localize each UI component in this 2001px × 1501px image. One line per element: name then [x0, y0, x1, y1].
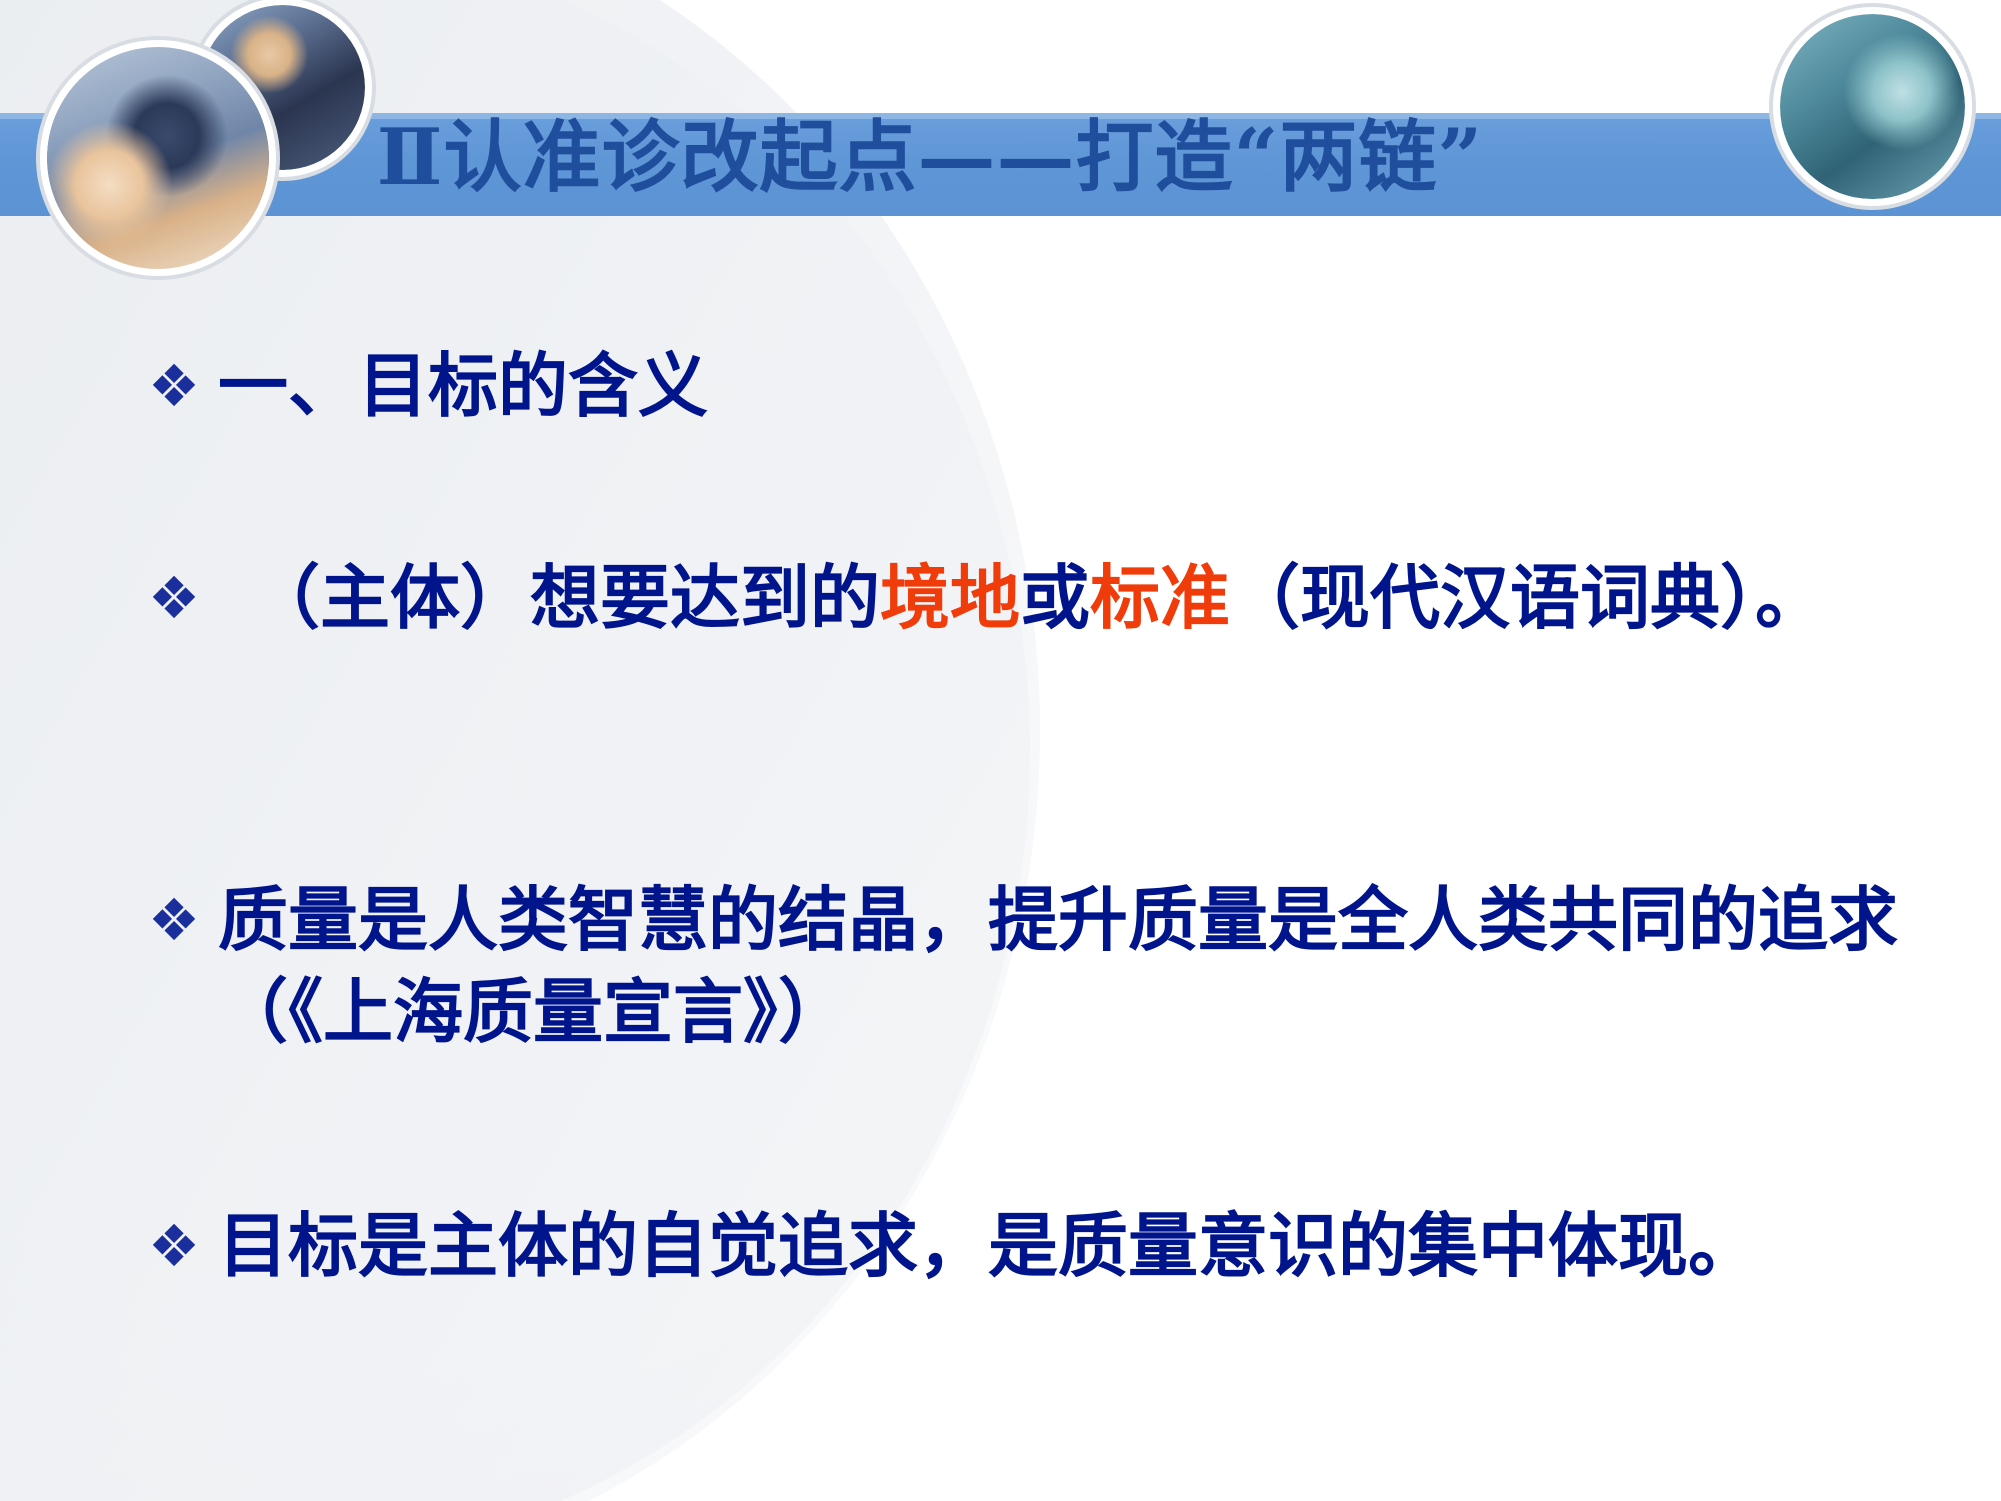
- photo-bubble-presenter-image: [1780, 14, 1965, 199]
- photo-bubble-businessmen-left: [47, 47, 269, 269]
- bullet-diamond-icon: ❖: [148, 874, 212, 966]
- presentation-slide: Ⅱ认准诊改起点——打造“两链” ❖ 一、目标的含义 ❖ （主体）想要达到的境地或…: [0, 0, 2001, 1501]
- slide-title-numeral: Ⅱ: [377, 112, 444, 203]
- bullet-2-segment-0: （主体）想要达到的: [250, 557, 880, 639]
- bullet-item-1-text: 一、目标的含义: [218, 340, 2000, 432]
- bullet-diamond-icon: ❖: [148, 552, 212, 644]
- bullet-diamond-icon: ❖: [148, 340, 212, 432]
- bullet-4-segment-0: 目标是主体的自觉追求，是质量意识的集中体现。: [218, 1205, 1758, 1287]
- bullet-2-segment-2: 或: [1020, 557, 1090, 639]
- bullet-item-2-text: （主体）想要达到的境地或标准（现代汉语词典）。: [250, 552, 1990, 644]
- bullet-item-1: ❖ 一、目标的含义: [0, 340, 2001, 432]
- bullet-item-3-text: 质量是人类智慧的结晶，提升质量是全人类共同的追求（《上海质量宣言》）: [218, 874, 2001, 1058]
- slide-title-text: 认准诊改起点——打造“两链”: [444, 112, 1484, 203]
- bullet-diamond-icon: ❖: [148, 1200, 212, 1292]
- bullet-2-segment-4: （现代汉语词典）。: [1230, 557, 1825, 639]
- bullet-item-4-text: 目标是主体的自觉追求，是质量意识的集中体现。: [218, 1200, 2001, 1292]
- bullet-item-3: ❖ 质量是人类智慧的结晶，提升质量是全人类共同的追求（《上海质量宣言》）: [0, 874, 2001, 1058]
- photo-bubble-businessmen-image: [47, 47, 269, 269]
- bullet-1-segment-0: 一、目标的含义: [218, 345, 708, 427]
- bullet-3-segment-0: 质量是人类智慧的结晶，提升质量是全人类共同的追求（《上海质量宣言》）: [218, 879, 1898, 1053]
- bullet-item-2: ❖ （主体）想要达到的境地或标准（现代汉语词典）。: [0, 552, 2001, 644]
- bullet-item-4: ❖ 目标是主体的自觉追求，是质量意识的集中体现。: [0, 1200, 2001, 1292]
- photo-bubble-presenter-right: [1780, 14, 1965, 199]
- bullet-2-segment-1-highlight: 境地: [880, 557, 1020, 639]
- bullet-2-segment-3-highlight: 标准: [1090, 557, 1230, 639]
